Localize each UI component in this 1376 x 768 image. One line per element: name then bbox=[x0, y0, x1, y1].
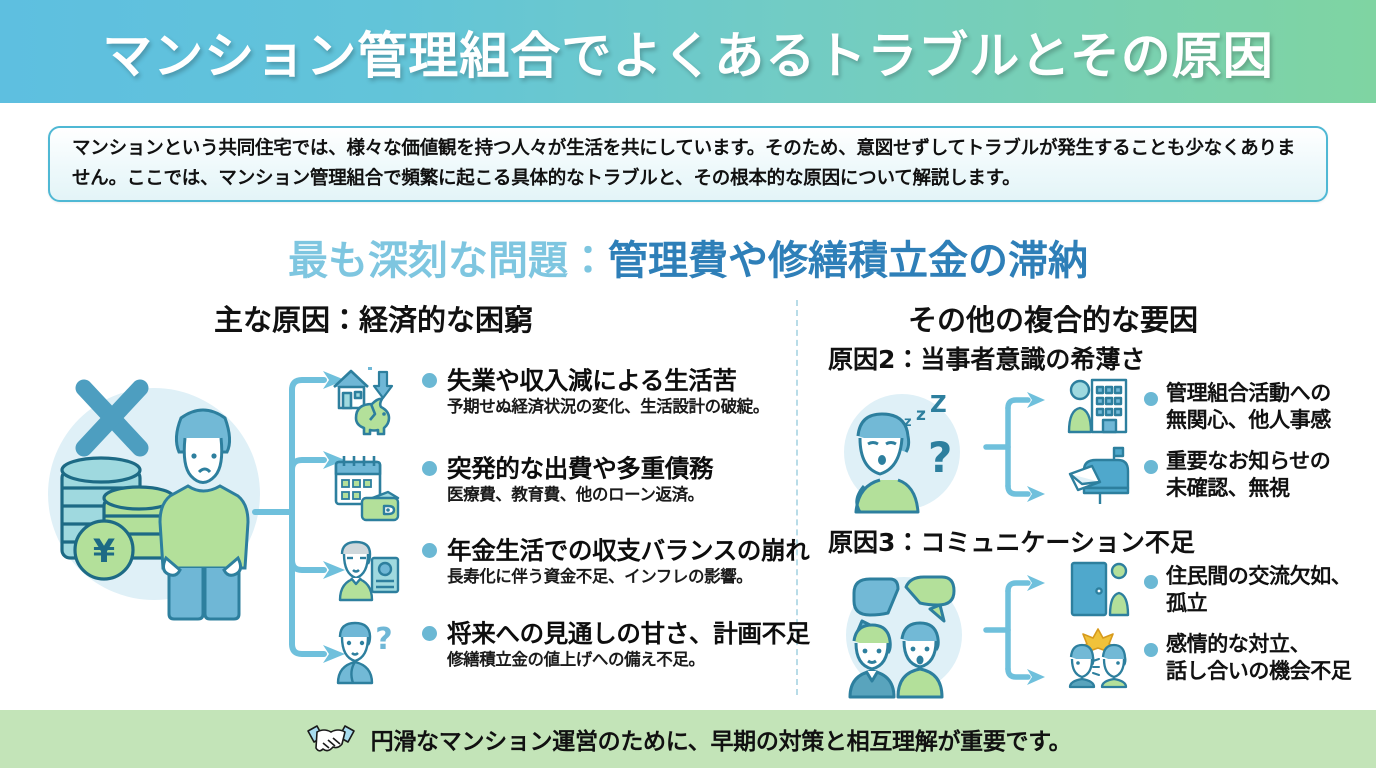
footer-bar: 円滑なマンション運営のために、早期の対策と相互理解が重要です。 bbox=[0, 710, 1376, 768]
bullet-marker bbox=[422, 543, 437, 558]
empty-pockets-man-with-coins-and-x-mark-icon: ¥ bbox=[42, 358, 272, 620]
list-item-title: 突発的な出費や多重債務 bbox=[447, 450, 713, 485]
page-header: マンション管理組合でよくあるトラブルとその原因 bbox=[0, 0, 1376, 103]
svg-text:?: ? bbox=[928, 433, 952, 482]
infographic-root: マンション管理組合でよくあるトラブルとその原因 マンションという共同住宅では、様… bbox=[0, 0, 1376, 768]
bullet-marker bbox=[422, 373, 437, 388]
list-item-subtitle: 医療費、教育費、他のローン返済。 bbox=[447, 481, 704, 505]
bullet-marker bbox=[1144, 575, 1158, 589]
cause-group: 原因2：当事者意識の希薄さ Z z z ? bbox=[828, 340, 1368, 510]
person-with-question-mark-icon: ? bbox=[330, 615, 402, 687]
sleepy-confused-person-icon: Z z z ? bbox=[832, 376, 984, 516]
list-item-title: 失業や収入減による生活苦 bbox=[447, 362, 737, 397]
cause-row-text: 感情的な対立、 話し合いの機会不足 bbox=[1166, 631, 1351, 685]
list-item-title: 年金生活での収支バランスの崩れ bbox=[447, 532, 810, 567]
handshake-icon bbox=[305, 722, 357, 756]
calendar-and-wallet-icon bbox=[330, 450, 402, 522]
cause-group: 原因3：コミュニケーション不足 bbox=[828, 523, 1368, 698]
bullet-marker bbox=[422, 461, 437, 476]
list-item-title: 将来への見通しの甘さ、計画不足 bbox=[447, 615, 810, 650]
cause-group-heading: 原因2：当事者意識の希薄さ bbox=[828, 340, 1145, 376]
house-with-down-arrow-and-broken-piggy-bank-icon bbox=[330, 362, 402, 434]
two-people-broken-speech-bubbles-icon bbox=[832, 559, 984, 699]
two-people-arguing-icon bbox=[1066, 627, 1130, 689]
bullet-marker bbox=[1144, 392, 1158, 406]
footer-text: 円滑なマンション運営のために、早期の対策と相互理解が重要です。 bbox=[371, 722, 1072, 756]
page-title: マンション管理組合でよくあるトラブルとその原因 bbox=[102, 16, 1274, 88]
list-item-subtitle: 長寿化に伴う資金不足、インフレの影響。 bbox=[447, 563, 752, 587]
cause-row-text: 住民間の交流欠如、 孤立 bbox=[1166, 563, 1351, 617]
bullet-marker bbox=[1144, 643, 1158, 657]
section-heading: 最も深刻な問題：管理費や修繕積立金の滞納 bbox=[0, 228, 1376, 286]
section-heading-prefix: 最も深刻な問題： bbox=[288, 238, 608, 284]
section-heading-emphasis: 管理費や修繕積立金の滞納 bbox=[608, 238, 1088, 284]
svg-text:¥: ¥ bbox=[93, 532, 115, 570]
left-column-heading: 主な原因：経済的な困窮 bbox=[214, 297, 533, 339]
cause-branch-arrows bbox=[986, 386, 1064, 508]
bullet-marker bbox=[1144, 460, 1158, 474]
cause-row-text: 重要なお知らせの 未確認、無視 bbox=[1166, 448, 1330, 502]
elderly-person-with-pension-book-icon bbox=[330, 532, 402, 604]
cause-group-heading: 原因3：コミュニケーション不足 bbox=[828, 523, 1195, 559]
svg-text:z: z bbox=[916, 405, 926, 425]
bullet-marker bbox=[422, 626, 437, 641]
cause-branch-arrows bbox=[986, 569, 1064, 691]
svg-text:Z: Z bbox=[930, 392, 947, 418]
list-item-subtitle: 予期せぬ経済状況の変化、生活設計の破綻。 bbox=[447, 393, 769, 417]
svg-text:?: ? bbox=[375, 622, 392, 657]
right-column-heading: その他の複合的な要因 bbox=[908, 297, 1198, 339]
cause-row-text: 管理組合活動への 無関心、他人事感 bbox=[1166, 380, 1331, 434]
mailbox-with-letter-icon bbox=[1066, 444, 1130, 506]
intro-callout-box: マンションという共同住宅では、様々な価値観を持つ人々が生活を共にしています。その… bbox=[48, 126, 1328, 202]
intro-text: マンションという共同住宅では、様々な価値観を持つ人々が生活を共にしています。その… bbox=[72, 134, 1304, 194]
closed-door-with-person-icon bbox=[1066, 559, 1130, 621]
person-and-building-icon bbox=[1066, 376, 1130, 438]
list-item-subtitle: 修繕積立金の値上げへの備え不足。 bbox=[447, 646, 705, 670]
